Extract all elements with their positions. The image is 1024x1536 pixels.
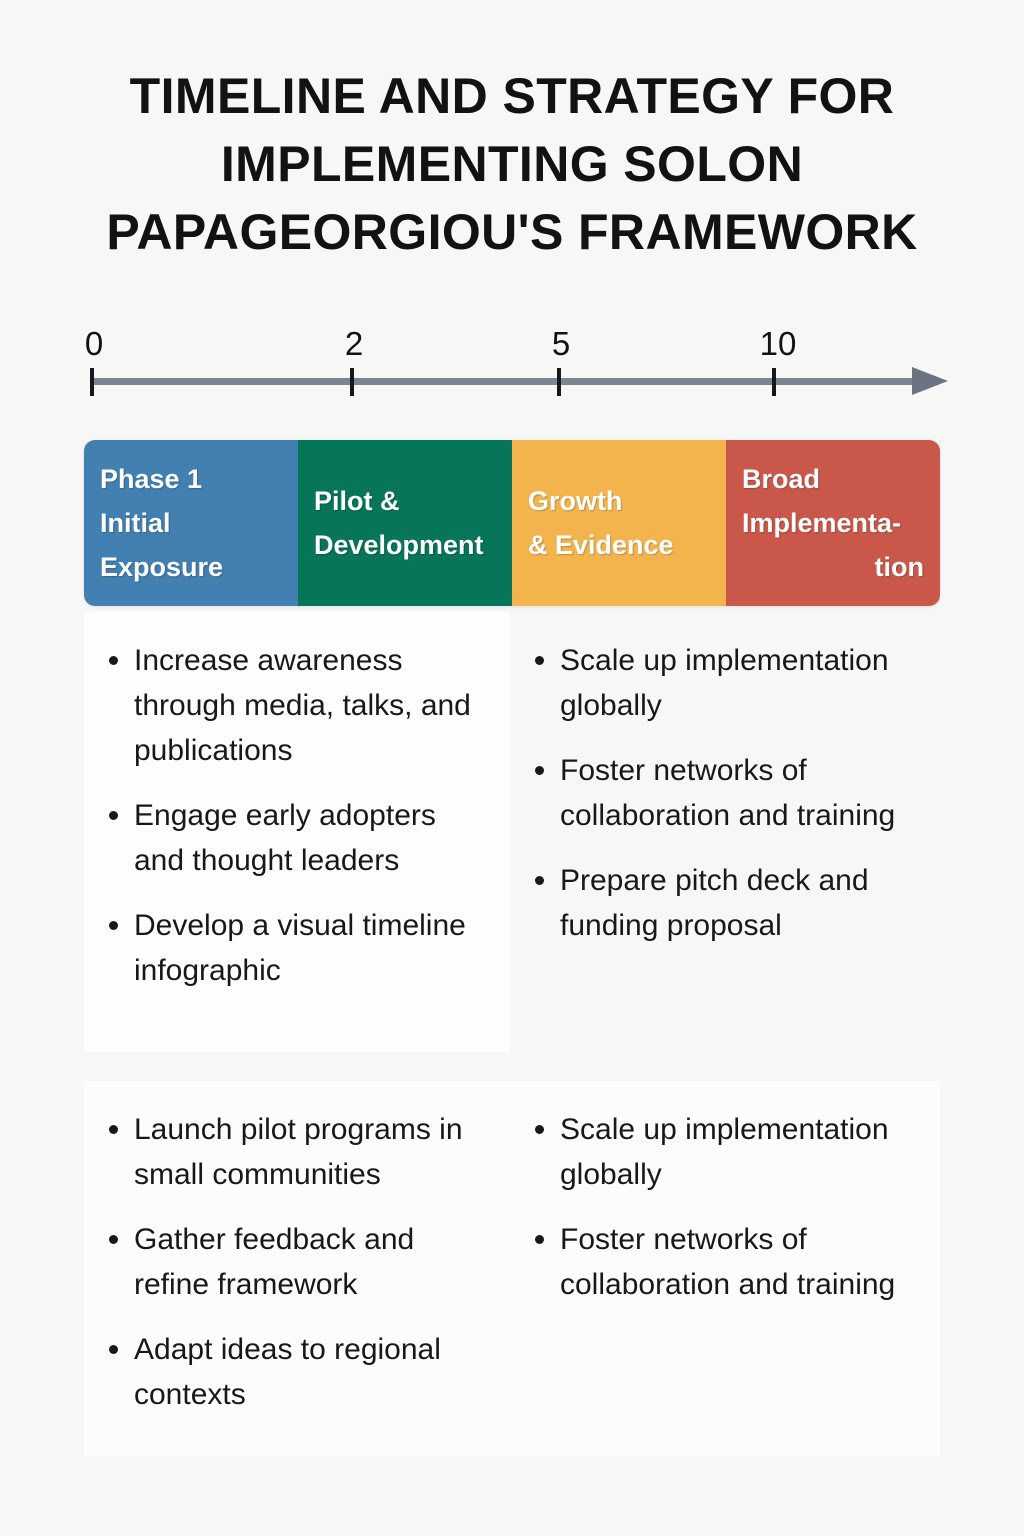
list-item-text: Develop a visual timeline infographic bbox=[134, 909, 466, 987]
list-item: Adapt ideas to regional contexts bbox=[102, 1327, 492, 1417]
title-line-2: IMPLEMENTING SOLON bbox=[72, 130, 952, 198]
phase-segment-pilot-development[interactable]: Pilot & Development bbox=[298, 440, 512, 606]
phase-3-line-1: Growth bbox=[528, 479, 710, 523]
bullet-dot-icon bbox=[109, 811, 118, 820]
panel-pilot-development-details: Launch pilot programs in small communiti… bbox=[84, 1081, 510, 1456]
phase-3-line-2: & Evidence bbox=[528, 523, 710, 567]
timeline-axis: 0 2 5 10 bbox=[0, 325, 1024, 415]
list-item: Launch pilot programs in small communiti… bbox=[102, 1107, 492, 1197]
list-item-text: Adapt ideas to regional contexts bbox=[134, 1333, 441, 1411]
bullet-dot-icon bbox=[535, 1235, 544, 1244]
phase-segment-initial-exposure[interactable]: Phase 1 Initial Exposure bbox=[84, 440, 298, 606]
page-title: TIMELINE AND STRATEGY FOR IMPLEMENTING S… bbox=[72, 62, 952, 266]
title-line-1: TIMELINE AND STRATEGY FOR bbox=[72, 62, 952, 130]
bullet-dot-icon bbox=[109, 656, 118, 665]
phase-segment-broad-implementation[interactable]: Broad Implementa- tion bbox=[726, 440, 940, 606]
panel-scale-up-details: Scale up implementation globally Foster … bbox=[510, 1081, 940, 1456]
axis-tick-0 bbox=[90, 368, 94, 396]
list-item: Gather feedback and refine framework bbox=[102, 1217, 492, 1307]
list-item: Engage early adopters and thought leader… bbox=[102, 793, 492, 883]
list-item: Scale up implementation globally bbox=[528, 638, 922, 728]
panel-initial-exposure-details: Increase awareness through media, talks,… bbox=[84, 612, 510, 1052]
list-item: Increase awareness through media, talks,… bbox=[102, 638, 492, 773]
axis-label-0: 0 bbox=[85, 325, 103, 363]
list-item: Foster networks of collaboration and tra… bbox=[528, 1217, 922, 1307]
phase-4-line-2: Implementa- bbox=[742, 501, 924, 545]
axis-tick-2 bbox=[350, 368, 354, 396]
phase-2-line-2: Development bbox=[314, 523, 496, 567]
bullet-dot-icon bbox=[535, 876, 544, 885]
bullet-list-top-left: Increase awareness through media, talks,… bbox=[84, 612, 510, 993]
bullet-list-top-right: Scale up implementation globally Foster … bbox=[510, 612, 940, 948]
axis-label-10: 10 bbox=[760, 325, 797, 363]
bullet-dot-icon bbox=[535, 1125, 544, 1134]
list-item: Foster networks of collaboration and tra… bbox=[528, 748, 922, 838]
phase-4-line-1: Broad bbox=[742, 457, 924, 501]
list-item: Prepare pitch deck and funding proposal bbox=[528, 858, 922, 948]
list-item-text: Prepare pitch deck and funding proposal bbox=[560, 864, 869, 942]
list-item-text: Scale up implementation globally bbox=[560, 644, 889, 722]
bullet-dot-icon bbox=[535, 656, 544, 665]
list-item-text: Launch pilot programs in small communiti… bbox=[134, 1113, 463, 1191]
list-item-text: Foster networks of collaboration and tra… bbox=[560, 1223, 895, 1301]
axis-tick-10 bbox=[772, 368, 776, 396]
bullet-list-bottom-right: Scale up implementation globally Foster … bbox=[510, 1081, 940, 1307]
phase-segment-growth-evidence[interactable]: Growth & Evidence bbox=[512, 440, 726, 606]
list-item-text: Scale up implementation globally bbox=[560, 1113, 889, 1191]
bullet-dot-icon bbox=[109, 1125, 118, 1134]
bullet-list-bottom-left: Launch pilot programs in small communiti… bbox=[84, 1081, 510, 1417]
phase-1-line-1: Phase 1 bbox=[100, 457, 282, 501]
bullet-dot-icon bbox=[109, 1235, 118, 1244]
list-item-text: Gather feedback and refine framework bbox=[134, 1223, 414, 1301]
panel-growth-broad-details: Scale up implementation globally Foster … bbox=[510, 612, 940, 1052]
timeline-arrow-icon bbox=[912, 367, 948, 395]
axis-label-5: 5 bbox=[552, 325, 570, 363]
phase-1-line-2: Initial bbox=[100, 501, 282, 545]
list-item: Scale up implementation globally bbox=[528, 1107, 922, 1197]
bullet-dot-icon bbox=[109, 921, 118, 930]
list-item-text: Engage early adopters and thought leader… bbox=[134, 799, 436, 877]
list-item-text: Increase awareness through media, talks,… bbox=[134, 644, 471, 767]
title-line-3: PAPAGEORGIOU'S FRAMEWORK bbox=[72, 198, 952, 266]
axis-tick-5 bbox=[557, 368, 561, 396]
bullet-dot-icon bbox=[535, 766, 544, 775]
phase-1-line-3: Exposure bbox=[100, 545, 282, 589]
panel-bottom: Launch pilot programs in small communiti… bbox=[84, 1081, 940, 1456]
phase-2-line-1: Pilot & bbox=[314, 479, 496, 523]
axis-label-2: 2 bbox=[345, 325, 363, 363]
timeline-axis-line bbox=[92, 378, 914, 385]
bullet-dot-icon bbox=[109, 1345, 118, 1354]
list-item-text: Foster networks of collaboration and tra… bbox=[560, 754, 895, 832]
phase-bar: Phase 1 Initial Exposure Pilot & Develop… bbox=[84, 440, 940, 606]
list-item: Develop a visual timeline infographic bbox=[102, 903, 492, 993]
phase-4-line-3: tion bbox=[742, 545, 924, 589]
